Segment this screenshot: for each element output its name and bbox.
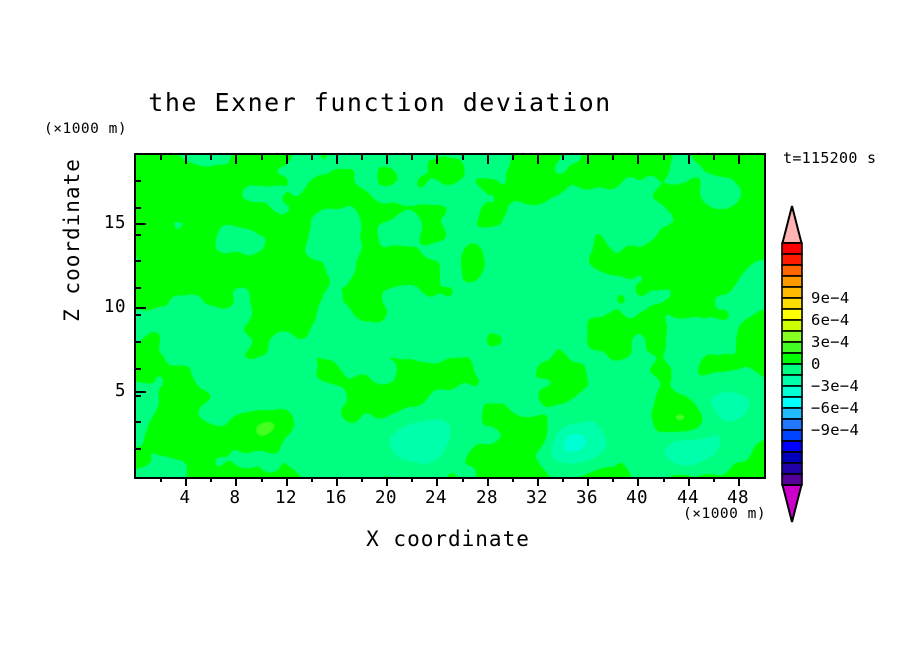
colorbar-band — [782, 408, 802, 419]
colorbar-band — [782, 375, 802, 386]
x-axis-top-tick — [235, 155, 237, 164]
colorbar-band — [782, 331, 802, 342]
x-axis-top-tick — [637, 155, 639, 164]
x-axis-top-tick — [587, 155, 589, 164]
y-axis-major-tick — [136, 391, 146, 393]
x-axis-minor-tick — [311, 477, 313, 482]
x-axis-top-tick — [286, 155, 288, 164]
x-axis-tick-label: 40 — [617, 488, 657, 508]
x-axis-major-tick — [688, 477, 690, 486]
colorbar-band — [782, 309, 802, 320]
contour-field-canvas — [136, 155, 764, 477]
colorbar-tick-label: −6e−4 — [811, 399, 859, 417]
x-axis-major-tick — [185, 477, 187, 486]
y-axis-minor-tick — [136, 448, 141, 450]
x-axis-minor-tick — [462, 477, 464, 482]
x-axis-top-tick — [210, 155, 212, 160]
x-axis-major-tick — [487, 477, 489, 486]
x-axis-top-tick — [738, 155, 740, 164]
x-axis-top-tick — [386, 155, 388, 164]
x-axis-title: X coordinate — [134, 527, 762, 551]
x-axis-tick-label: 32 — [517, 488, 557, 508]
y-axis-minor-tick — [136, 234, 141, 236]
colorbar-tick-label: 3e−4 — [811, 333, 850, 351]
y-axis-minor-tick — [136, 341, 141, 343]
x-axis-major-tick — [286, 477, 288, 486]
x-axis-major-tick — [738, 477, 740, 486]
x-axis-major-tick — [336, 477, 338, 486]
x-axis-top-tick — [185, 155, 187, 164]
x-axis-major-tick — [587, 477, 589, 486]
y-axis-minor-tick — [136, 260, 141, 262]
y-axis-minor-tick — [136, 207, 141, 209]
x-axis-top-tick — [663, 155, 665, 160]
x-axis-minor-tick — [160, 477, 162, 482]
x-axis-top-tick — [261, 155, 263, 160]
colorbar-swatch-strip — [781, 205, 803, 523]
x-axis-top-tick — [336, 155, 338, 164]
x-axis-minor-tick — [612, 477, 614, 482]
y-axis-minor-tick — [136, 395, 141, 397]
x-axis-top-tick — [436, 155, 438, 164]
colorbar-band — [782, 397, 802, 408]
x-axis-top-tick — [562, 155, 564, 160]
y-axis-minor-tick — [136, 314, 141, 316]
x-axis-unit-label: (×1000 m) — [683, 506, 766, 522]
colorbar-tick-label: 6e−4 — [811, 311, 850, 329]
page-title: the Exner function deviation — [0, 88, 760, 117]
x-axis-top-tick — [713, 155, 715, 160]
x-axis-tick-label: 28 — [467, 488, 507, 508]
colorbar-band — [782, 298, 802, 309]
y-axis-minor-tick — [136, 421, 141, 423]
x-axis-minor-tick — [562, 477, 564, 482]
x-axis-top-tick — [688, 155, 690, 164]
x-axis-top-tick — [612, 155, 614, 160]
y-axis-minor-tick — [136, 287, 141, 289]
x-axis-minor-tick — [512, 477, 514, 482]
x-axis-tick-label: 36 — [567, 488, 607, 508]
colorbar-band — [782, 474, 802, 485]
x-axis-minor-tick — [411, 477, 413, 482]
y-axis-major-tick — [136, 307, 146, 309]
y-axis-tick-label: 15 — [86, 213, 126, 233]
colorbar-tick-label: 9e−4 — [811, 289, 850, 307]
x-axis-minor-tick — [663, 477, 665, 482]
x-axis-top-tick — [411, 155, 413, 160]
x-axis-top-tick — [512, 155, 514, 160]
x-axis-tick-label: 20 — [366, 488, 406, 508]
x-axis-minor-tick — [210, 477, 212, 482]
y-axis-tick-label: 5 — [86, 381, 126, 401]
colorbar-band — [782, 243, 802, 254]
x-axis-major-tick — [436, 477, 438, 486]
colorbar-band — [782, 452, 802, 463]
y-axis-minor-tick — [136, 368, 141, 370]
colorbar-band — [782, 386, 802, 397]
x-axis-tick-label: 16 — [316, 488, 356, 508]
x-axis-minor-tick — [713, 477, 715, 482]
colorbar-band — [782, 287, 802, 298]
x-axis-minor-tick — [261, 477, 263, 482]
x-axis-top-tick — [487, 155, 489, 164]
y-axis-title: Z coordinate — [60, 150, 84, 330]
colorbar-band — [782, 430, 802, 441]
colorbar-overflow-low-cap — [783, 485, 802, 522]
x-axis-top-tick — [160, 155, 162, 160]
colorbar-band — [782, 419, 802, 430]
x-axis-tick-label: 8 — [215, 488, 255, 508]
x-axis-top-tick — [361, 155, 363, 160]
colorbar-band — [782, 276, 802, 287]
x-axis-top-tick — [537, 155, 539, 164]
colorbar-band — [782, 364, 802, 375]
x-axis-tick-label: 48 — [718, 488, 758, 508]
x-axis-top-tick — [311, 155, 313, 160]
x-axis-top-tick — [462, 155, 464, 160]
y-axis-major-tick — [136, 223, 146, 225]
x-axis-major-tick — [386, 477, 388, 486]
colorbar-tick-label: −9e−4 — [811, 421, 859, 439]
colorbar — [781, 205, 803, 523]
x-axis-tick-label: 24 — [416, 488, 456, 508]
y-axis-minor-tick — [136, 180, 141, 182]
colorbar-tick-label: 0 — [811, 355, 821, 373]
colorbar-band — [782, 254, 802, 265]
colorbar-band — [782, 265, 802, 276]
x-axis-tick-label: 4 — [165, 488, 205, 508]
colorbar-band — [782, 320, 802, 331]
x-axis-tick-label: 44 — [668, 488, 708, 508]
x-axis-major-tick — [637, 477, 639, 486]
colorbar-band — [782, 463, 802, 474]
colorbar-band — [782, 441, 802, 452]
x-axis-minor-tick — [361, 477, 363, 482]
x-axis-major-tick — [537, 477, 539, 486]
colorbar-tick-label: −3e−4 — [811, 377, 859, 395]
colorbar-band — [782, 342, 802, 353]
time-annotation: t=115200 s — [783, 149, 876, 167]
x-axis-tick-label: 12 — [266, 488, 306, 508]
y-axis-tick-label: 10 — [86, 297, 126, 317]
contour-plot-area — [134, 153, 766, 479]
colorbar-band — [782, 353, 802, 364]
x-axis-major-tick — [235, 477, 237, 486]
y-axis-unit-label: (×1000 m) — [44, 121, 127, 137]
colorbar-overflow-high-cap — [783, 206, 802, 243]
